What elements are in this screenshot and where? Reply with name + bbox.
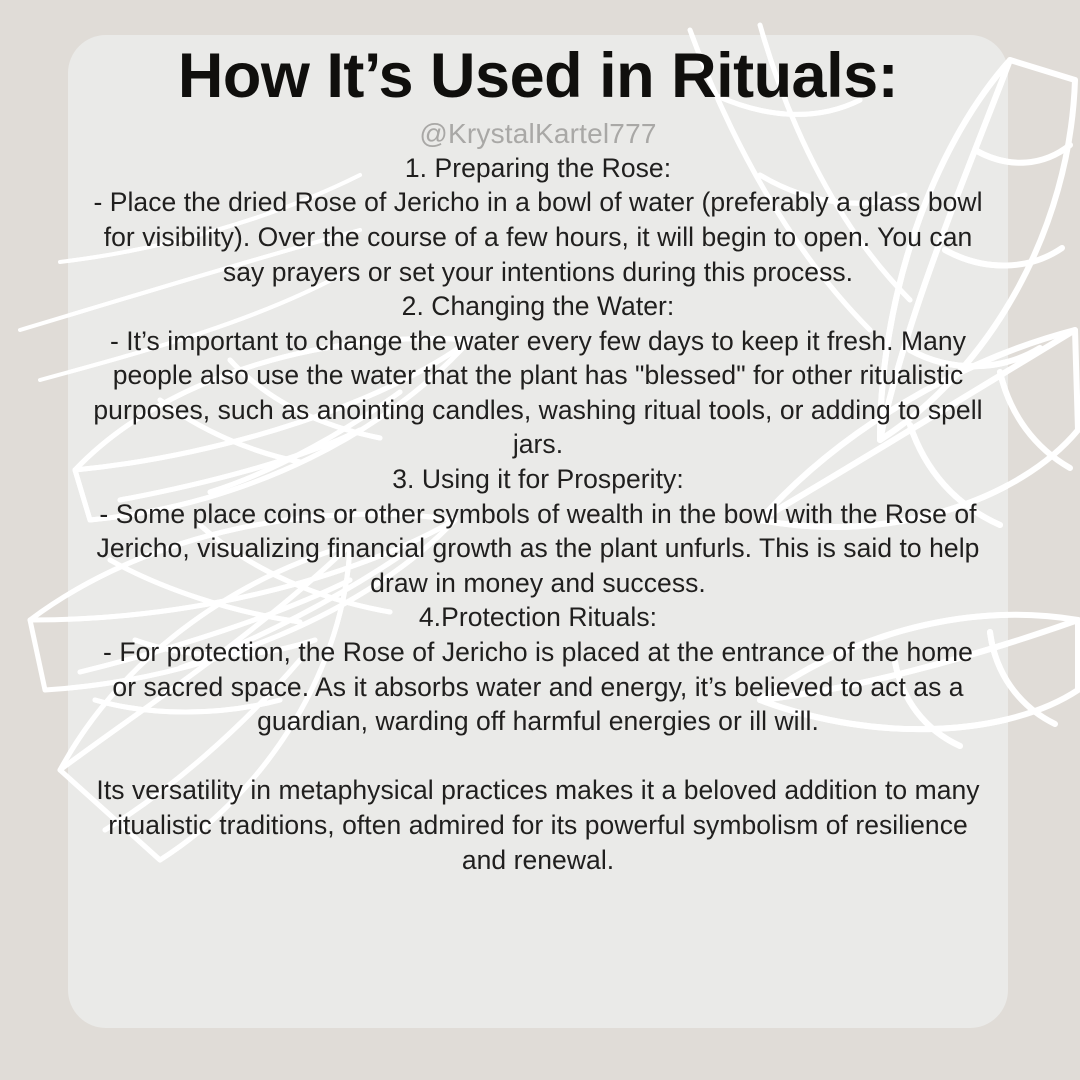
ritual-step-1-heading: 1. Preparing the Rose: (90, 151, 986, 186)
ritual-step-2-heading: 2. Changing the Water: (90, 289, 986, 324)
ritual-step-2: 2. Changing the Water: - It’s important … (90, 289, 986, 462)
content-card: How It’s Used in Rituals: @KrystalKartel… (68, 35, 1008, 1028)
poster-canvas: How It’s Used in Rituals: @KrystalKartel… (0, 0, 1080, 1080)
author-handle: @KrystalKartel777 (68, 117, 1008, 151)
closing-paragraph: Its versatility in metaphysical practice… (90, 773, 986, 877)
ritual-steps-body: 1. Preparing the Rose: - Place the dried… (68, 151, 1008, 877)
ritual-step-2-text: - It’s important to change the water eve… (90, 324, 986, 462)
ritual-step-4-text: - For protection, the Rose of Jericho is… (90, 635, 986, 739)
page-title: How It’s Used in Rituals: (68, 35, 1008, 109)
ritual-step-3-heading: 3. Using it for Prosperity: (90, 462, 986, 497)
ritual-step-4: 4.Protection Rituals: - For protection, … (90, 600, 986, 738)
ritual-step-3: 3. Using it for Prosperity: - Some place… (90, 462, 986, 600)
paragraph-spacer (90, 739, 986, 774)
ritual-step-4-heading: 4.Protection Rituals: (90, 600, 986, 635)
ritual-step-1-text: - Place the dried Rose of Jericho in a b… (90, 185, 986, 289)
ritual-step-1: 1. Preparing the Rose: - Place the dried… (90, 151, 986, 289)
ritual-step-3-text: - Some place coins or other symbols of w… (90, 497, 986, 601)
card-content: How It’s Used in Rituals: @KrystalKartel… (68, 35, 1008, 877)
